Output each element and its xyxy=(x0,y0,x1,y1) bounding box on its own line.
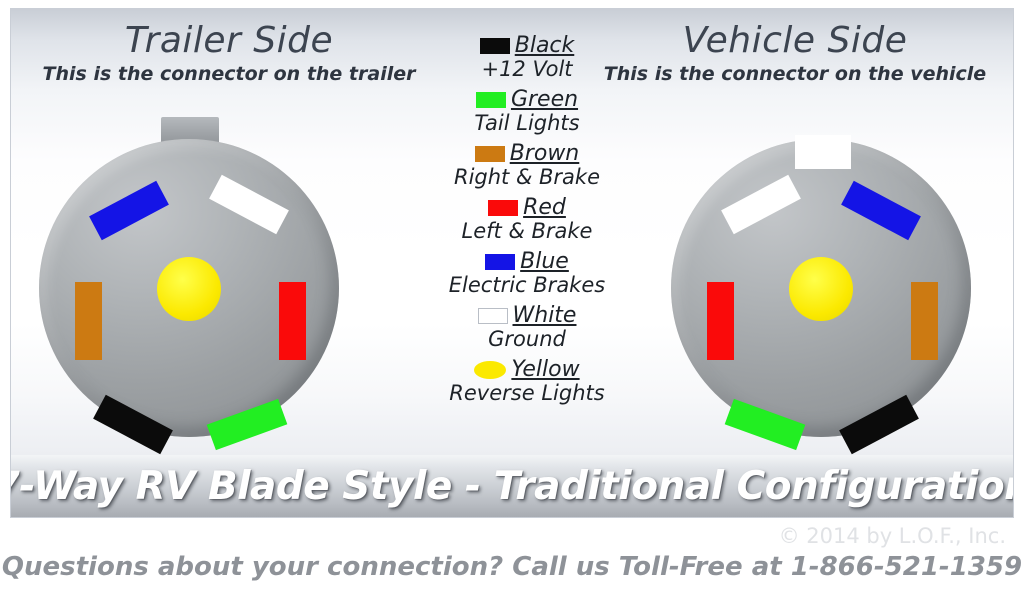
legend-color-name: Yellow xyxy=(511,358,579,382)
title-banner: 7-Way RV Blade Style - Traditional Confi… xyxy=(11,455,1013,517)
legend-function-label: Right & Brake xyxy=(431,165,623,189)
legend-swatch-icon xyxy=(478,308,508,324)
legend-function-label: +12 Volt xyxy=(431,57,623,81)
legend-item: BlueElectric Brakes xyxy=(431,249,623,297)
legend-item-row: Red xyxy=(431,195,623,221)
trailer-side-header: Trailer Side This is the connector on th… xyxy=(19,21,439,86)
vehicle-side-connector xyxy=(671,117,971,437)
legend-color-name: Black xyxy=(515,34,575,58)
legend-swatch-icon xyxy=(476,92,506,108)
toll-free-text: Questions about your connection? Call us… xyxy=(0,552,1024,582)
legend-function-label: Electric Brakes xyxy=(431,273,623,297)
legend-item: GreenTail Lights xyxy=(431,87,623,135)
copyright-notice: © 2014 by L.O.F., Inc. xyxy=(779,524,1006,548)
vehicle-side-title: Vehicle Side xyxy=(585,21,1005,61)
connector-blade xyxy=(279,282,306,360)
legend-color-name: Red xyxy=(523,196,566,220)
legend-function-label: Reverse Lights xyxy=(431,381,623,405)
legend-function-label: Left & Brake xyxy=(431,219,623,243)
connector-center-pin xyxy=(157,257,221,321)
connector-blade xyxy=(707,282,734,360)
legend-swatch-icon xyxy=(485,254,515,270)
legend-item-row: Green xyxy=(431,87,623,113)
legend-item-row: Blue xyxy=(431,249,623,275)
legend-item-row: Brown xyxy=(431,141,623,167)
legend-item: YellowReverse Lights xyxy=(431,357,623,405)
legend-function-label: Ground xyxy=(431,327,623,351)
banner-title: 7-Way RV Blade Style - Traditional Confi… xyxy=(10,464,1014,509)
legend-swatch-icon xyxy=(474,361,506,379)
connector-center-pin xyxy=(789,257,853,321)
trailer-side-title: Trailer Side xyxy=(19,21,439,61)
vehicle-side-subtitle: This is the connector on the vehicle xyxy=(585,62,1005,86)
legend-item-row: White xyxy=(431,303,623,329)
connector-alignment-notch xyxy=(795,135,851,169)
legend-item: Black+12 Volt xyxy=(431,33,623,81)
connector-blade xyxy=(75,282,102,360)
trailer-side-subtitle: This is the connector on the trailer xyxy=(19,62,439,86)
legend-swatch-icon xyxy=(480,38,510,54)
diagram-panel: Trailer Side This is the connector on th… xyxy=(10,8,1014,518)
legend-item-row: Black xyxy=(431,33,623,59)
legend-item: WhiteGround xyxy=(431,303,623,351)
vehicle-side-header: Vehicle Side This is the connector on th… xyxy=(585,21,1005,86)
diagram-root: Trailer Side This is the connector on th… xyxy=(0,0,1024,600)
legend-color-name: Brown xyxy=(510,142,580,166)
trailer-side-connector xyxy=(39,117,339,437)
legend-color-name: White xyxy=(513,304,577,328)
legend-swatch-icon xyxy=(488,200,518,216)
legend-swatch-icon xyxy=(475,146,505,162)
legend-color-name: Blue xyxy=(520,250,569,274)
legend-item: BrownRight & Brake xyxy=(431,141,623,189)
legend-color-name: Green xyxy=(511,88,578,112)
connector-blade xyxy=(911,282,938,360)
legend-function-label: Tail Lights xyxy=(431,111,623,135)
wire-color-legend: Black+12 VoltGreenTail LightsBrownRight … xyxy=(431,33,623,411)
legend-item-row: Yellow xyxy=(431,357,623,383)
legend-item: RedLeft & Brake xyxy=(431,195,623,243)
